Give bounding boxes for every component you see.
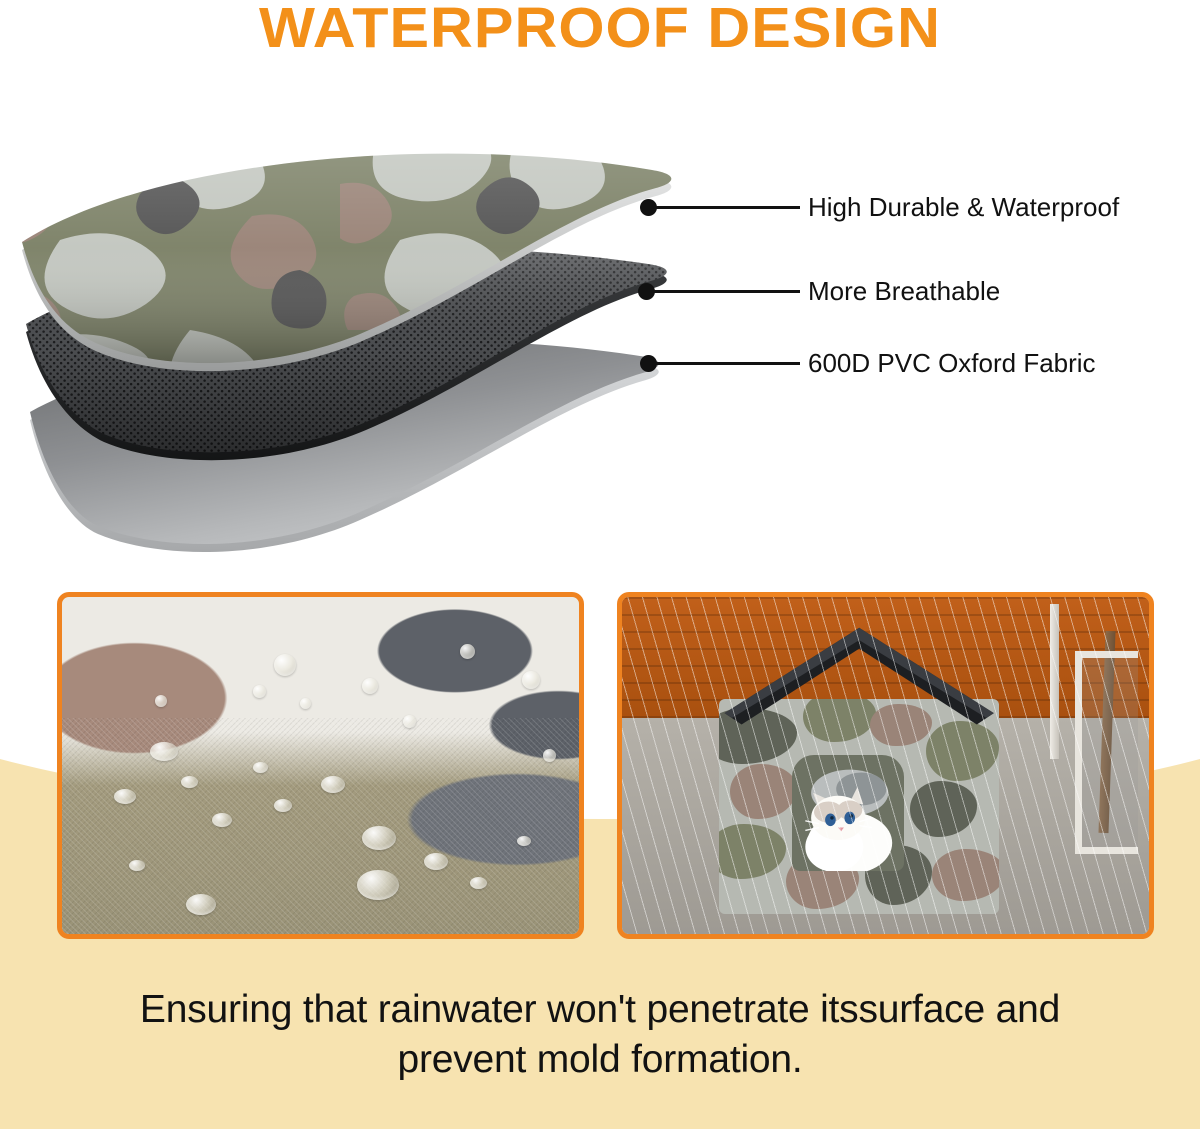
leader-line xyxy=(652,206,800,209)
water-droplet xyxy=(186,894,216,915)
callout-label: 600D PVC Oxford Fabric xyxy=(808,346,1096,380)
caption-line-2: prevent mold formation. xyxy=(397,1038,802,1081)
water-droplet xyxy=(362,826,396,850)
bottom-caption: Ensuring that rainwater won't penetrate … xyxy=(60,985,1140,1085)
water-droplet xyxy=(129,860,145,871)
water-droplet xyxy=(543,749,556,762)
water-droplet xyxy=(300,698,311,709)
cat-house-in-rain-photo xyxy=(617,592,1154,939)
water-droplet xyxy=(150,742,178,761)
caption-line-1: Ensuring that rainwater won't penetrate … xyxy=(140,988,1060,1031)
callout-label: More Breathable xyxy=(808,274,1000,308)
water-droplet xyxy=(424,853,448,870)
water-droplet xyxy=(181,776,198,788)
water-droplet xyxy=(357,870,399,900)
callout-label: High Durable & Waterproof xyxy=(808,190,1119,224)
water-droplet xyxy=(253,685,266,698)
leader-line xyxy=(650,290,800,293)
infographic-page: WATERPROOF DESIGN xyxy=(0,0,1200,1129)
water-droplet xyxy=(470,877,487,889)
water-droplet xyxy=(321,776,345,793)
water-beading-closeup-photo xyxy=(57,592,584,939)
water-droplet xyxy=(212,813,232,827)
fabric-layers-diagram xyxy=(0,120,800,570)
fabric-weave-texture xyxy=(62,718,579,934)
water-droplet xyxy=(114,789,136,804)
water-droplet xyxy=(362,678,378,694)
leader-line xyxy=(652,362,800,365)
rain-streaks xyxy=(622,597,1149,934)
water-droplet xyxy=(155,695,167,707)
page-title: WATERPROOF DESIGN xyxy=(0,0,1200,60)
